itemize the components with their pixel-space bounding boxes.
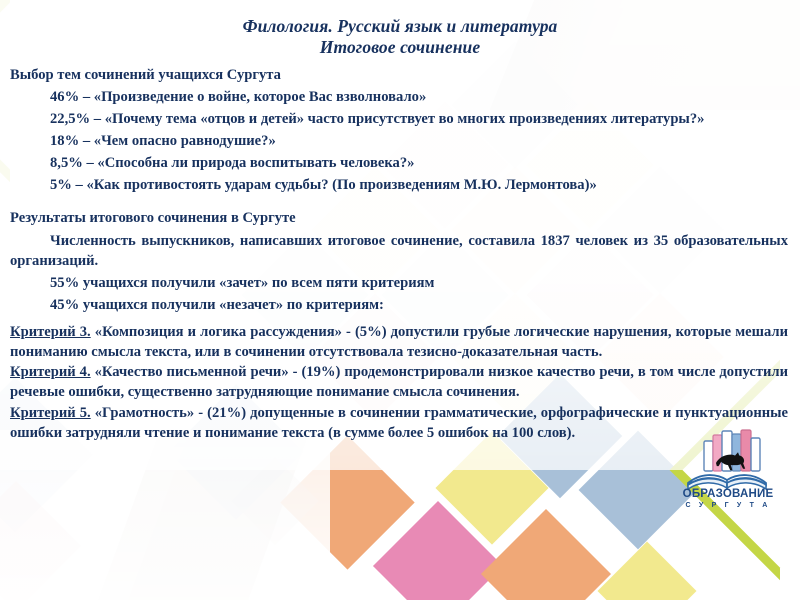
criterion-label: Критерий 5. [10,405,91,421]
criterion-item: Критерий 3. «Композиция и логика рассужд… [10,322,788,362]
slide-title-line-2: Итоговое сочинение [0,37,800,58]
slide-title: Филология. Русский язык и литература Ито… [0,0,800,59]
section-heading-topics: Выбор тем сочинений учащихся Сургута [10,65,788,85]
logo-subtitle: С У Р Г У Т А [668,502,788,509]
criterion-label: Критерий 4. [10,364,91,380]
criterion-item: Критерий 4. «Качество письменной речи» -… [10,362,788,402]
topic-item: 5% – «Как противостоять ударам судьбы? (… [10,175,788,195]
presentation-slide: Филология. Русский язык и литература Ито… [0,0,800,600]
slide-body: Выбор тем сочинений учащихся Сургута 46%… [0,59,800,443]
slide-title-line-1: Филология. Русский язык и литература [243,16,558,36]
result-item: Численность выпускников, написавших итог… [10,231,788,271]
accent-diamond [598,542,697,600]
logo-books-horse-icon [668,425,788,495]
criterion-text: «Композиция и логика рассуждения» - (5%)… [10,324,788,360]
criterion-label: Критерий 3. [10,324,91,340]
topic-item: 18% – «Чем опасно равнодушие?» [10,131,788,151]
result-item: 45% учащихся получили «незачет» по крите… [10,295,788,315]
topic-item: 8,5% – «Способна ли природа воспитывать … [10,153,788,173]
topic-item: 46% – «Произведение о войне, которое Вас… [10,87,788,107]
section-heading-results: Результаты итогового сочинения в Сургуте [10,208,788,228]
organization-logo: ОБРАЗОВАНИЕ С У Р Г У Т А [668,425,788,521]
result-item: 55% учащихся получили «зачет» по всем пя… [10,273,788,293]
slide-content: Филология. Русский язык и литература Ито… [0,0,800,443]
topic-item: 22,5% – «Почему тема «отцов и детей» час… [10,109,788,129]
criterion-text: «Качество письменной речи» - (19%) проде… [10,364,788,400]
spacer [10,197,788,208]
logo-name: ОБРАЗОВАНИЕ [668,488,788,500]
